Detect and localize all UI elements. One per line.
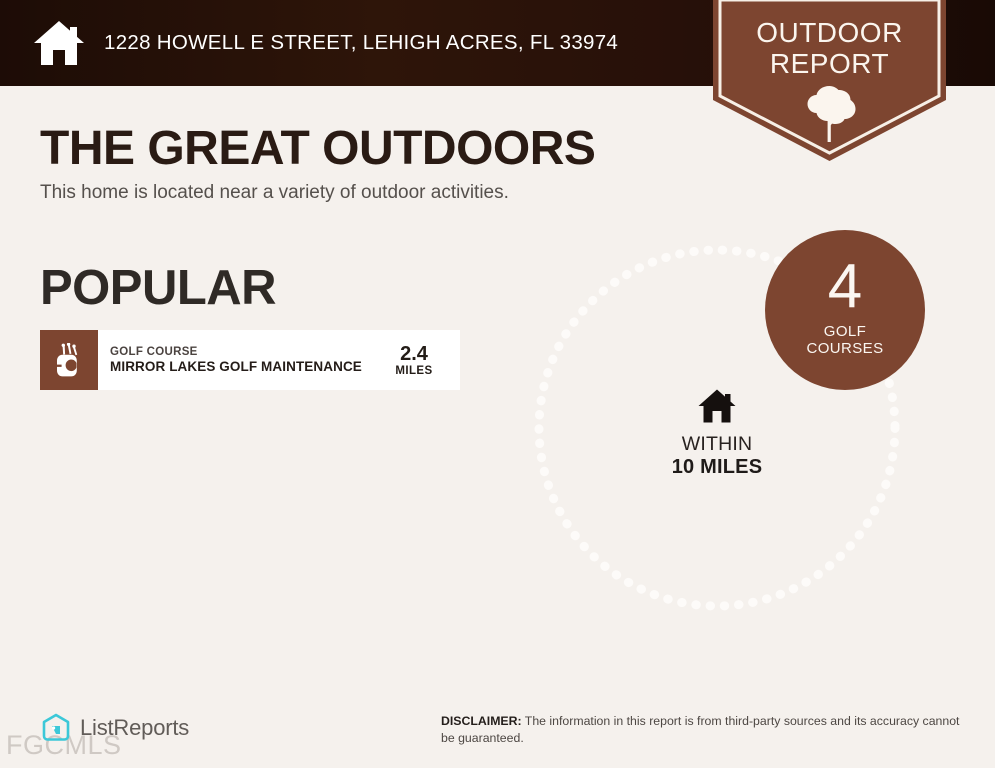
distance-unit: MILES: [395, 365, 432, 377]
list-item-category: GOLF COURSE: [110, 346, 374, 360]
page-subtitle: This home is located near a variety of o…: [40, 182, 509, 204]
listreports-logo-text: ListReports: [80, 715, 189, 741]
radius-within-label: WITHIN: [682, 433, 753, 456]
home-icon: [0, 19, 86, 67]
popular-list: GOLF COURSE MIRROR LAKES GOLF MAINTENANC…: [40, 330, 460, 390]
home-icon: [697, 388, 737, 424]
list-item-name: MIRROR LAKES GOLF MAINTENANCE: [110, 359, 374, 375]
disclaimer-label: DISCLAIMER:: [441, 714, 522, 728]
disclaimer: DISCLAIMER: The information in this repo…: [441, 713, 966, 746]
outdoor-report-badge: OUTDOOR REPORT: [713, 0, 946, 161]
count-label-line1: GOLF: [807, 323, 884, 340]
page-title: THE GREAT OUTDOORS: [40, 121, 595, 176]
list-item[interactable]: GOLF COURSE MIRROR LAKES GOLF MAINTENANC…: [40, 330, 460, 390]
section-heading-popular: POPULAR: [40, 260, 276, 316]
golf-bag-icon: [40, 330, 98, 390]
count-label-line2: COURSES: [807, 340, 884, 357]
golf-courses-count-badge: 4 GOLF COURSES: [765, 230, 925, 390]
svg-text:REPORT: REPORT: [770, 48, 889, 79]
list-item-text: GOLF COURSE MIRROR LAKES GOLF MAINTENANC…: [98, 330, 374, 390]
listreports-logo[interactable]: ListReports: [40, 712, 189, 744]
radius-graphic: WITHIN 10 MILES 4 GOLF COURSES: [517, 228, 937, 628]
list-item-distance: 2.4 MILES: [374, 330, 460, 390]
count-label: GOLF COURSES: [807, 323, 884, 357]
radius-within-value: 10 MILES: [672, 456, 763, 479]
count-value: 4: [828, 259, 862, 315]
property-address: 1228 HOWELL E STREET, LEHIGH ACRES, FL 3…: [104, 31, 618, 55]
svg-text:OUTDOOR: OUTDOOR: [756, 17, 903, 48]
radius-center-label: WITHIN 10 MILES: [637, 388, 797, 479]
distance-value: 2.4: [400, 344, 428, 365]
listreports-house-icon: [40, 712, 72, 744]
